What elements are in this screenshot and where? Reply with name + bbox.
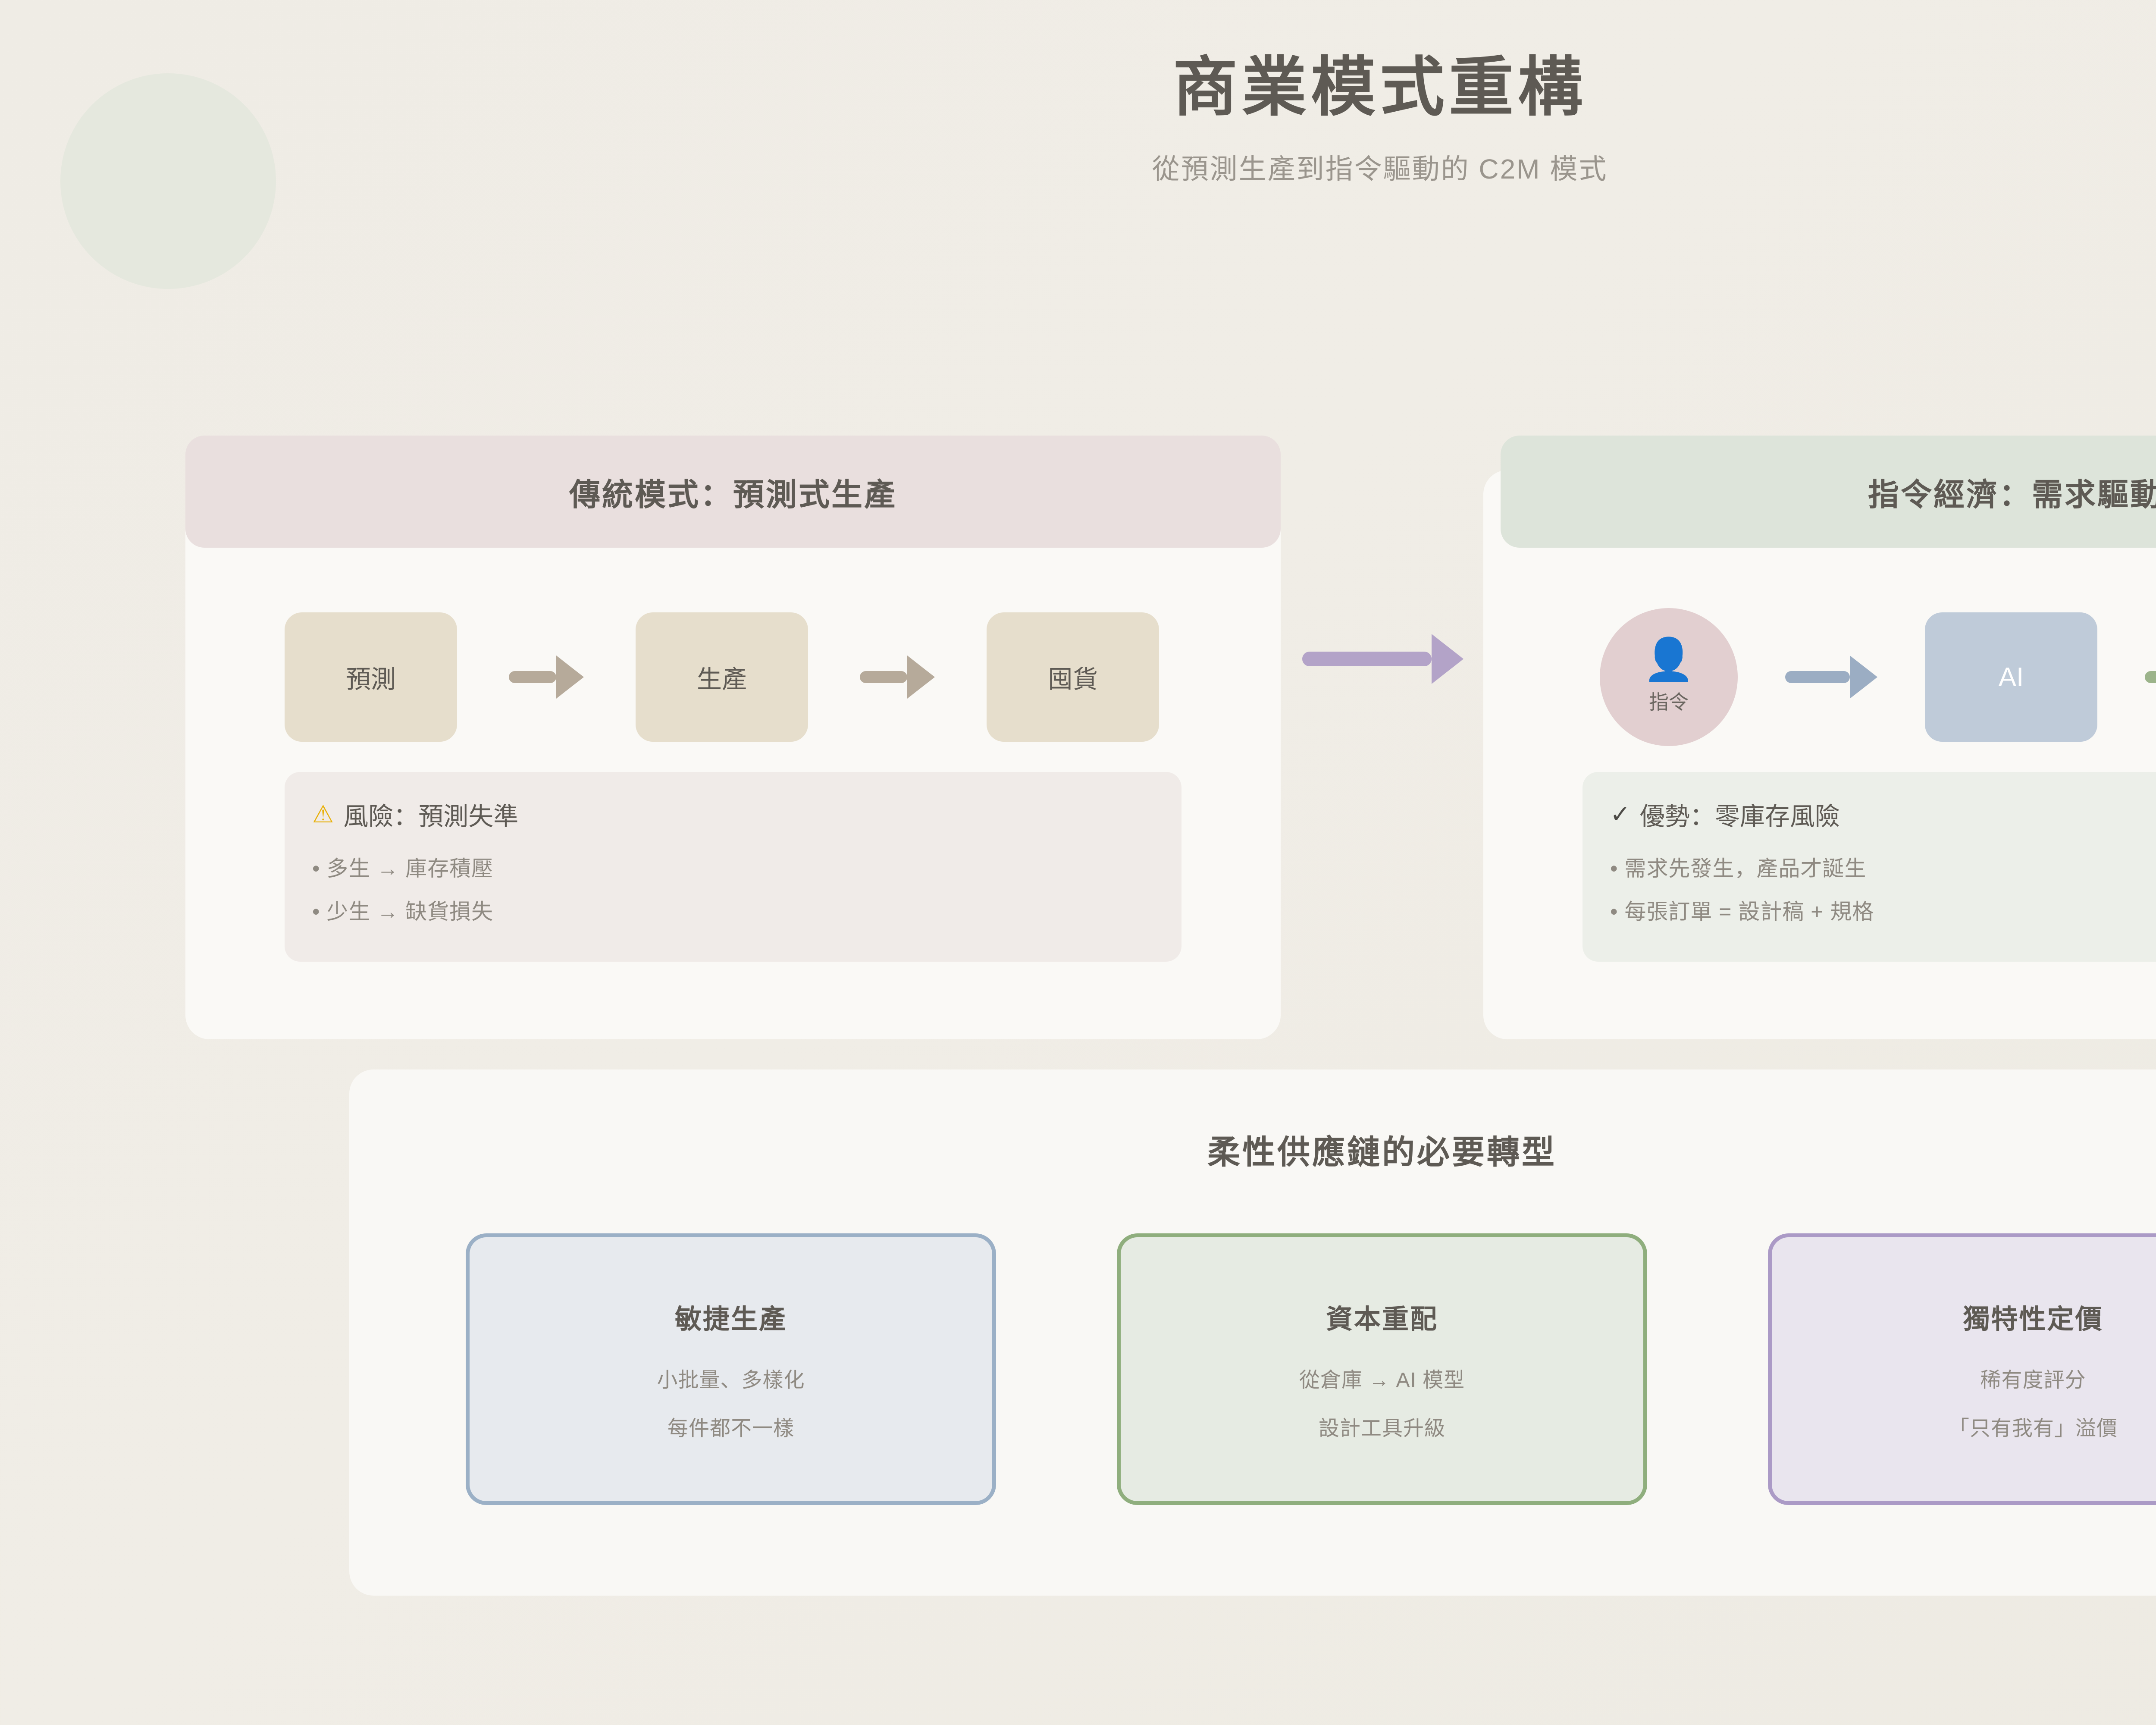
flow-node-instruction: 👤 指令 <box>1600 608 1738 746</box>
pillar-card-uniqueness-pricing[interactable]: 獨特性定價 稀有度評分 「只有我有」溢價 <box>1768 1233 2156 1505</box>
panel-traditional-model: 預測 生產 囤貨 ⚠ 風險：預測失準 <box>185 436 1281 1039</box>
panel-command-header: 指令經濟：需求驅動生產 <box>1501 436 2156 548</box>
note-risk-title: ⚠ 風險：預測失準 <box>312 796 1154 832</box>
arrow-shaft <box>860 671 907 683</box>
arrow-head-icon <box>1850 655 1877 699</box>
arrow-shaft <box>2145 671 2156 683</box>
flow-arrow-ai-to-manufacture <box>2145 655 2156 699</box>
page-title: 商業模式重構 <box>0 52 2156 123</box>
pillar-card-capital-reallocation[interactable]: 資本重配 從倉庫 → AI 模型 設計工具升級 <box>1117 1233 1647 1505</box>
panel-command-body: 👤 指令 AI 製造 ✓ 優 <box>1483 470 2156 1039</box>
arrow-head-icon <box>556 655 584 699</box>
pillar-line: 稀有度評分 <box>1980 1363 2086 1393</box>
pillar-title: 敏捷生產 <box>675 1297 787 1336</box>
note-risk-title-text: 風險：預測失準 <box>343 796 518 832</box>
flow-node-produce: 生產 <box>636 612 808 742</box>
panel-command-economy: 👤 指令 AI 製造 ✓ 優 <box>1483 436 2156 1039</box>
pillar-line: 每件都不一樣 <box>667 1411 794 1441</box>
person-icon: 👤 <box>1643 639 1695 681</box>
flow-node-ai: AI <box>1925 612 2097 742</box>
bottom-section: 柔性供應鏈的必要轉型 敏捷生產 小批量、多樣化 每件都不一樣 資本重配 從倉庫 … <box>349 1069 2156 1596</box>
flow-traditional: 預測 生產 囤貨 <box>285 612 1159 742</box>
arrow-head-icon <box>1432 634 1463 684</box>
note-advantage: ✓ 優勢：零庫存風險 • 需求先發生，產品才誕生 • 每張訂單 = 設計稿 + … <box>1583 772 2156 962</box>
note-advantage-item: • 需求先發生，產品才誕生 <box>1610 851 2156 882</box>
flow-node-forecast-label: 預測 <box>346 659 396 695</box>
pillar-line: 「只有我有」溢價 <box>1949 1411 2118 1441</box>
check-icon: ✓ <box>1610 800 1630 828</box>
flow-arrow-instruction-to-ai <box>1785 655 1877 699</box>
pillar-line: 從倉庫 → AI 模型 <box>1299 1363 1465 1393</box>
pillar-card-agile-production[interactable]: 敏捷生產 小批量、多樣化 每件都不一樣 <box>466 1233 996 1505</box>
panel-transition-arrow <box>1302 634 1463 684</box>
panel-traditional-header: 傳統模式：預測式生產 <box>185 436 1281 548</box>
pillar-line: 設計工具升級 <box>1319 1411 1445 1441</box>
note-advantage-item: • 每張訂單 = 設計稿 + 規格 <box>1610 894 2156 925</box>
pillar-title: 獨特性定價 <box>1963 1297 2103 1336</box>
pillar-title: 資本重配 <box>1326 1297 1438 1336</box>
flow-command: 👤 指令 AI 製造 <box>1600 612 2156 742</box>
flow-node-ai-label: AI <box>1999 662 2024 693</box>
flow-node-forecast: 預測 <box>285 612 457 742</box>
note-risk-item: • 多生 → 庫存積壓 <box>312 851 1154 882</box>
pillar-line: 小批量、多樣化 <box>657 1363 805 1393</box>
arrow-shaft <box>509 671 556 683</box>
page-header: 商業模式重構 從預測生產到指令驅動的 C2M 模式 <box>0 52 2156 187</box>
flow-node-produce-label: 生產 <box>697 659 747 695</box>
note-risk: ⚠ 風險：預測失準 • 多生 → 庫存積壓 • 少生 → 缺貨損失 <box>285 772 1181 962</box>
flow-node-stockpile-label: 囤貨 <box>1048 659 1098 695</box>
bottom-section-title: 柔性供應鏈的必要轉型 <box>349 1126 2156 1173</box>
note-risk-item: • 少生 → 缺貨損失 <box>312 894 1154 925</box>
panel-traditional-body: 預測 生產 囤貨 ⚠ 風險：預測失準 <box>185 470 1281 1039</box>
flow-node-stockpile: 囤貨 <box>987 612 1159 742</box>
bottom-card-list: 敏捷生產 小批量、多樣化 每件都不一樣 資本重配 從倉庫 → AI 模型 設計工… <box>466 1233 2156 1505</box>
flow-arrow-produce-to-stockpile <box>860 655 935 699</box>
note-advantage-title-text: 優勢：零庫存風險 <box>1640 796 1840 832</box>
note-advantage-title: ✓ 優勢：零庫存風險 <box>1610 796 2156 832</box>
arrow-head-icon <box>907 655 935 699</box>
flow-arrow-forecast-to-produce <box>509 655 584 699</box>
arrow-shaft <box>1302 652 1432 666</box>
warning-icon: ⚠ <box>312 800 334 828</box>
page-subtitle: 從預測生產到指令驅動的 C2M 模式 <box>0 147 2156 187</box>
arrow-shaft <box>1785 671 1850 683</box>
flow-node-instruction-label: 指令 <box>1649 687 1689 715</box>
